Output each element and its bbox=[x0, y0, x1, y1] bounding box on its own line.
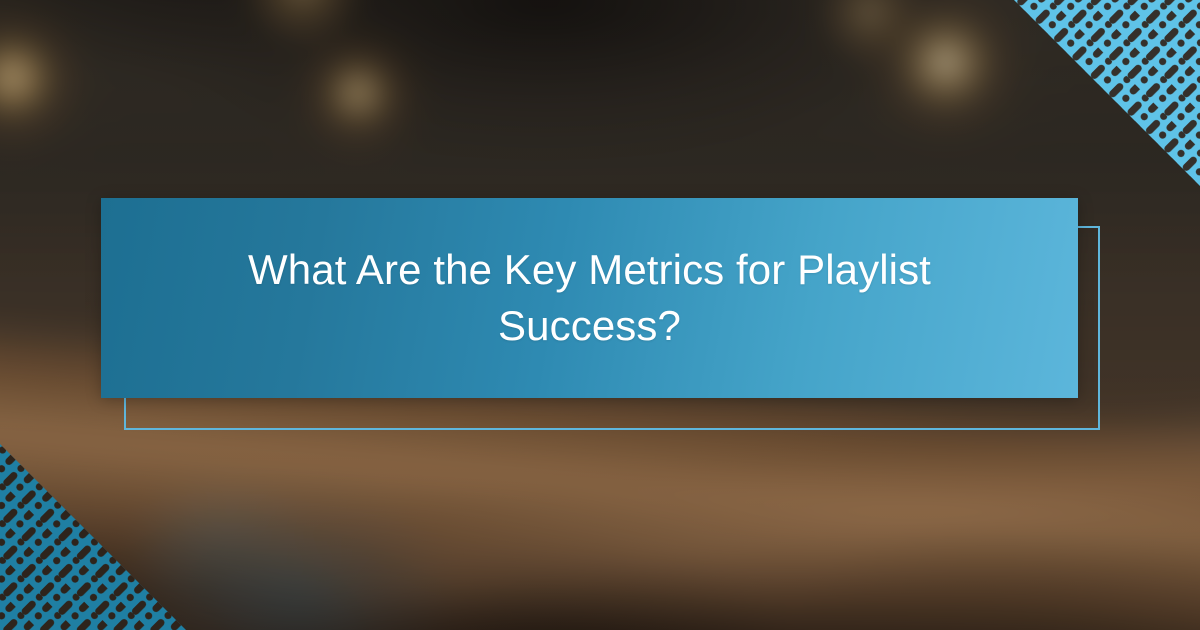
headline-banner: What Are the Key Metrics for Playlist Su… bbox=[101, 198, 1078, 398]
page-title: What Are the Key Metrics for Playlist Su… bbox=[240, 242, 940, 355]
share-card-poster: What Are the Key Metrics for Playlist Su… bbox=[0, 0, 1200, 630]
page-title-text: What Are the Key Metrics for Playlist Su… bbox=[248, 246, 931, 349]
